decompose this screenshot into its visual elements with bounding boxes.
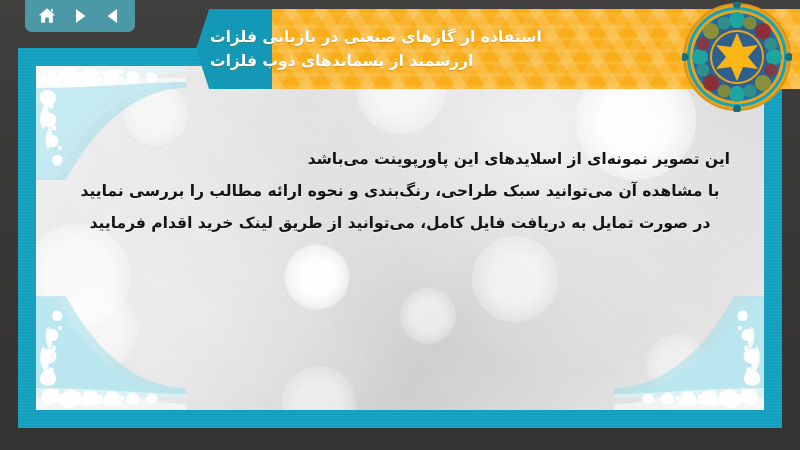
- home-button[interactable]: [34, 4, 60, 28]
- slide-navigation-bar: [25, 0, 135, 32]
- slide-stage: این تصویر نمونه‌ای از اسلایدهای این پاور…: [0, 0, 800, 450]
- body-line-2: با مشاهده آن می‌توانید سبک طراحی، رنگ‌بن…: [62, 176, 738, 208]
- slide-body-text: این تصویر نمونه‌ای از اسلایدهای این پاور…: [36, 144, 764, 239]
- title-line-2: ارزشمند از پسماندهای ذوب فلزات: [210, 49, 473, 73]
- bokeh-circle: [54, 288, 138, 372]
- bokeh-circle: [282, 366, 356, 410]
- previous-slide-button[interactable]: [100, 4, 126, 28]
- next-slide-button[interactable]: [67, 4, 93, 28]
- slide-card: این تصویر نمونه‌ای از اسلایدهای این پاور…: [18, 48, 782, 428]
- bokeh-circle: [472, 236, 558, 322]
- home-icon: [37, 6, 57, 26]
- bokeh-circle: [646, 334, 706, 394]
- body-line-1: این تصویر نمونه‌ای از اسلایدهای این پاور…: [62, 144, 738, 176]
- body-line-3: در صورت تمایل به دریافت فایل کامل، می‌تو…: [62, 208, 738, 240]
- slide-title: استفاده از گازهای صنعتی در بازیابی فلزات…: [196, 9, 800, 89]
- bokeh-circle: [124, 82, 188, 146]
- bokeh-circle: [400, 288, 456, 344]
- slide-content-area: این تصویر نمونه‌ای از اسلایدهای این پاور…: [36, 66, 764, 410]
- triangle-right-icon: [71, 7, 89, 25]
- bokeh-circle: [284, 244, 350, 310]
- triangle-left-icon: [104, 7, 122, 25]
- title-banner: استفاده از گازهای صنعتی در بازیابی فلزات…: [196, 9, 800, 89]
- bokeh-circle: [36, 224, 130, 328]
- title-line-1: استفاده از گازهای صنعتی در بازیابی فلزات: [210, 25, 542, 49]
